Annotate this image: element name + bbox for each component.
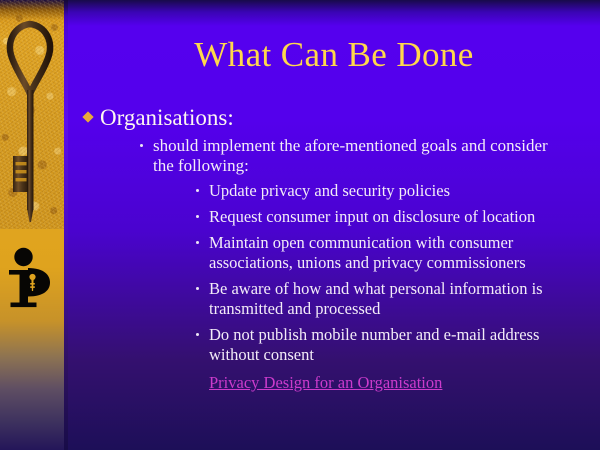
diamond-bullet-icon [82, 111, 93, 122]
round-bullet-icon [140, 144, 143, 147]
antique-key-icon [0, 16, 64, 230]
person-with-key-logo-icon [8, 246, 56, 326]
bullet-level3-list: Update privacy and security policies Req… [194, 181, 560, 365]
round-bullet-icon [196, 215, 199, 218]
list-item: Update privacy and security policies [194, 181, 560, 201]
list-item: Maintain open communication with consume… [194, 233, 560, 273]
bullet-level2: should implement the afore-mentioned goa… [138, 136, 549, 176]
list-item: Do not publish mobile number and e-mail … [194, 325, 560, 365]
list-item-text: Be aware of how and what personal inform… [209, 279, 543, 318]
list-item-text: Maintain open communication with consume… [209, 233, 526, 272]
round-bullet-icon [196, 333, 199, 336]
bullet-level1: Organisations: [76, 104, 596, 132]
bullet-level2-text: should implement the afore-mentioned goa… [153, 136, 548, 175]
sidebar-edge-divider [64, 0, 68, 450]
list-item: Be aware of how and what personal inform… [194, 279, 560, 319]
bullet-level1-text: Organisations: [100, 105, 234, 130]
list-item-text: Request consumer input on disclosure of … [209, 207, 535, 226]
slide-sidebar-decoration [0, 0, 64, 450]
round-bullet-icon [196, 241, 199, 244]
list-item-text: Update privacy and security policies [209, 181, 450, 200]
slide-body: Organisations: should implement the afor… [76, 104, 596, 393]
list-item: Request consumer input on disclosure of … [194, 207, 560, 227]
presentation-slide: What Can Be Done Organisations: should i… [0, 0, 600, 450]
privacy-design-hyperlink[interactable]: Privacy Design for an Organisation [209, 373, 442, 393]
round-bullet-icon [196, 287, 199, 290]
round-bullet-icon [196, 189, 199, 192]
list-item-text: Do not publish mobile number and e-mail … [209, 325, 539, 364]
slide-title: What Can Be Done [76, 34, 592, 76]
